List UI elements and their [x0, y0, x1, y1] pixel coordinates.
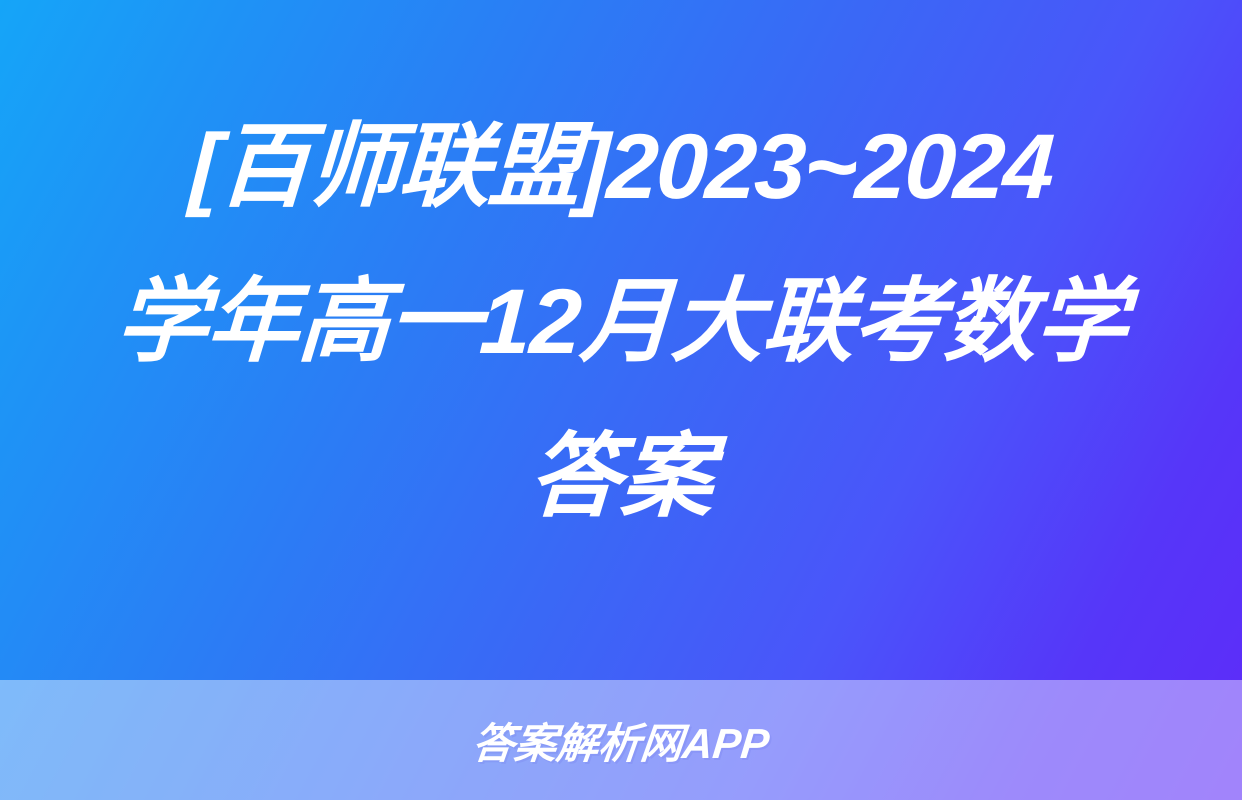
- poster-title-block: [百师联盟]2023~2024 学年高一12月大联考数学 答案: [0, 0, 1242, 680]
- poster-title-line-2: 学年高一12月大联考数学: [112, 245, 1130, 400]
- poster-title-line-1: [百师联盟]2023~2024: [186, 90, 1056, 245]
- poster-title-line-3: 答案: [525, 400, 717, 555]
- footer-watermark-text: 答案解析网APP: [470, 710, 773, 771]
- footer-watermark-band: 答案解析网APP: [0, 680, 1242, 800]
- poster-canvas: [百师联盟]2023~2024 学年高一12月大联考数学 答案 答案解析网APP: [0, 0, 1242, 800]
